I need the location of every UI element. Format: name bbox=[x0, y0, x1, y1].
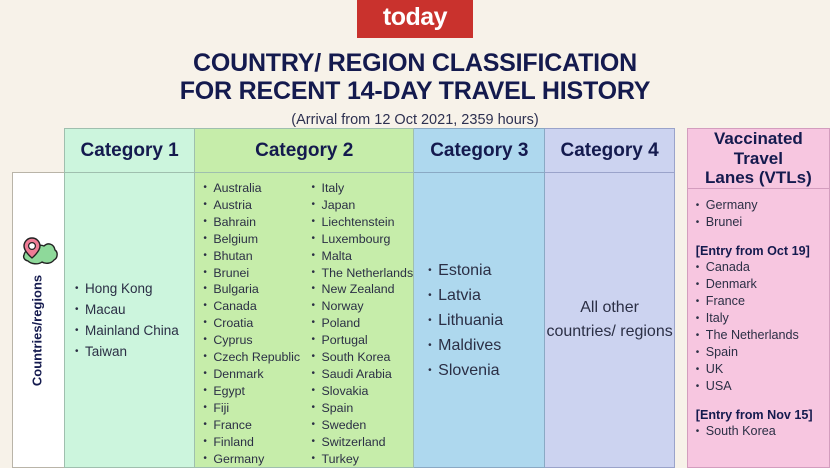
list-item: The Netherlands bbox=[696, 327, 829, 344]
category-1-header: Category 1 bbox=[65, 129, 194, 173]
category-3-list: Estonia Latvia Lithuania Maldives Sloven… bbox=[414, 258, 544, 383]
list-item: South Korea bbox=[312, 349, 414, 366]
list-item: Belgium bbox=[203, 231, 303, 248]
page-title: COUNTRY/ REGION CLASSIFICATION FOR RECEN… bbox=[0, 49, 830, 105]
list-item: Italy bbox=[312, 180, 414, 197]
vtl-entry-nov15-label: [Entry from Nov 15] bbox=[688, 408, 829, 422]
vtl-header-line-1: Vaccinated bbox=[705, 129, 812, 148]
vtl-entry-nov15-list: South Korea bbox=[688, 423, 829, 440]
list-item: Denmark bbox=[696, 276, 829, 293]
list-item: Saudi Arabia bbox=[312, 366, 414, 383]
list-item: Portugal bbox=[312, 332, 414, 349]
list-item: France bbox=[696, 293, 829, 310]
list-item: New Zealand bbox=[312, 281, 414, 298]
list-item: Bhutan bbox=[203, 248, 303, 265]
list-item: Slovenia bbox=[428, 358, 544, 383]
category-2-list-right: Italy Japan Liechtenstein Luxembourg Mal… bbox=[304, 173, 414, 467]
list-item: Liechtenstein bbox=[312, 214, 414, 231]
list-item: Denmark bbox=[203, 366, 303, 383]
list-item: Czech Republic bbox=[203, 349, 303, 366]
category-4-header: Category 4 bbox=[545, 129, 673, 173]
list-item: Brunei bbox=[696, 214, 829, 231]
list-item: Croatia bbox=[203, 315, 303, 332]
list-item: Mainland China bbox=[75, 320, 194, 341]
list-item: Spain bbox=[696, 344, 829, 361]
list-item: Bahrain bbox=[203, 214, 303, 231]
list-item: Sweden bbox=[312, 417, 414, 434]
list-item: Turkey bbox=[312, 451, 414, 468]
list-item: Hong Kong bbox=[75, 278, 194, 299]
column-category-4: Category 4 All other countries/ regions bbox=[545, 128, 674, 468]
page-title-line-1: COUNTRY/ REGION CLASSIFICATION bbox=[0, 49, 830, 77]
list-item: The Netherlands bbox=[312, 265, 414, 282]
list-item: Estonia bbox=[428, 258, 544, 283]
list-item: South Korea bbox=[696, 423, 829, 440]
column-category-3: Category 3 Estonia Latvia Lithuania Mald… bbox=[414, 128, 545, 468]
vtl-entry-oct19-label: [Entry from Oct 19] bbox=[688, 244, 829, 258]
list-item: Germany bbox=[203, 451, 303, 468]
column-category-1: Category 1 Hong Kong Macau Mainland Chin… bbox=[64, 128, 195, 468]
list-item: Macau bbox=[75, 299, 194, 320]
page-title-line-2: FOR RECENT 14-DAY TRAVEL HISTORY bbox=[0, 77, 830, 105]
category-2-list-left: Australia Austria Bahrain Belgium Bhutan… bbox=[195, 173, 303, 467]
list-item: Austria bbox=[203, 197, 303, 214]
category-2-header: Category 2 bbox=[195, 129, 413, 173]
list-item: Finland bbox=[203, 434, 303, 451]
list-item: Bulgaria bbox=[203, 281, 303, 298]
list-item: Poland bbox=[312, 315, 414, 332]
countries-regions-row-header: Countries/regions bbox=[12, 172, 64, 468]
category-3-body: Estonia Latvia Lithuania Maldives Sloven… bbox=[414, 173, 544, 467]
list-item: Canada bbox=[203, 298, 303, 315]
list-item: Spain bbox=[312, 400, 414, 417]
category-3-header: Category 3 bbox=[414, 129, 544, 173]
list-item: Maldives bbox=[428, 333, 544, 358]
category-4-body: All other countries/ regions bbox=[545, 173, 673, 467]
list-item: Germany bbox=[696, 197, 829, 214]
vtl-header-line-2: Travel bbox=[705, 149, 812, 168]
list-item: USA bbox=[696, 378, 829, 395]
column-category-2: Category 2 Australia Austria Bahrain Bel… bbox=[195, 128, 414, 468]
list-item: Norway bbox=[312, 298, 414, 315]
category-1-body: Hong Kong Macau Mainland China Taiwan bbox=[65, 173, 194, 467]
column-vaccinated-travel-lanes: Vaccinated Travel Lanes (VTLs) Germany B… bbox=[687, 128, 830, 468]
list-item: Canada bbox=[696, 259, 829, 276]
list-item: Latvia bbox=[428, 283, 544, 308]
list-item: France bbox=[203, 417, 303, 434]
classification-table: Category 1 Hong Kong Macau Mainland Chin… bbox=[64, 128, 830, 468]
vtl-body: Germany Brunei [Entry from Oct 19] Canad… bbox=[688, 189, 829, 467]
list-item: Slovakia bbox=[312, 383, 414, 400]
list-item: Malta bbox=[312, 248, 414, 265]
today-logo: today bbox=[357, 0, 473, 38]
vtl-header-line-3: Lanes (VTLs) bbox=[705, 168, 812, 187]
list-item: Italy bbox=[696, 310, 829, 327]
list-item: Lithuania bbox=[428, 308, 544, 333]
list-item: Egypt bbox=[203, 383, 303, 400]
list-item: Switzerland bbox=[312, 434, 414, 451]
category-4-text: All other countries/ regions bbox=[545, 296, 673, 344]
list-item: Japan bbox=[312, 197, 414, 214]
page-subtitle: (Arrival from 12 Oct 2021, 2359 hours) bbox=[0, 112, 830, 128]
vtl-initial-list: Germany Brunei bbox=[688, 189, 829, 231]
category-2-body: Australia Austria Bahrain Belgium Bhutan… bbox=[195, 173, 413, 467]
list-item: Fiji bbox=[203, 400, 303, 417]
vtl-entry-oct19-list: Canada Denmark France Italy The Netherla… bbox=[688, 259, 829, 395]
category-1-list: Hong Kong Macau Mainland China Taiwan bbox=[65, 278, 194, 362]
list-item: Taiwan bbox=[75, 341, 194, 362]
sidebar-vertical-label: Countries/regions bbox=[30, 231, 45, 431]
list-item: Luxembourg bbox=[312, 231, 414, 248]
list-item: Australia bbox=[203, 180, 303, 197]
list-item: UK bbox=[696, 361, 829, 378]
list-item: Cyprus bbox=[203, 332, 303, 349]
list-item: Brunei bbox=[203, 265, 303, 282]
vtl-header: Vaccinated Travel Lanes (VTLs) bbox=[688, 129, 829, 189]
brand-logo-container: today bbox=[0, 0, 830, 38]
